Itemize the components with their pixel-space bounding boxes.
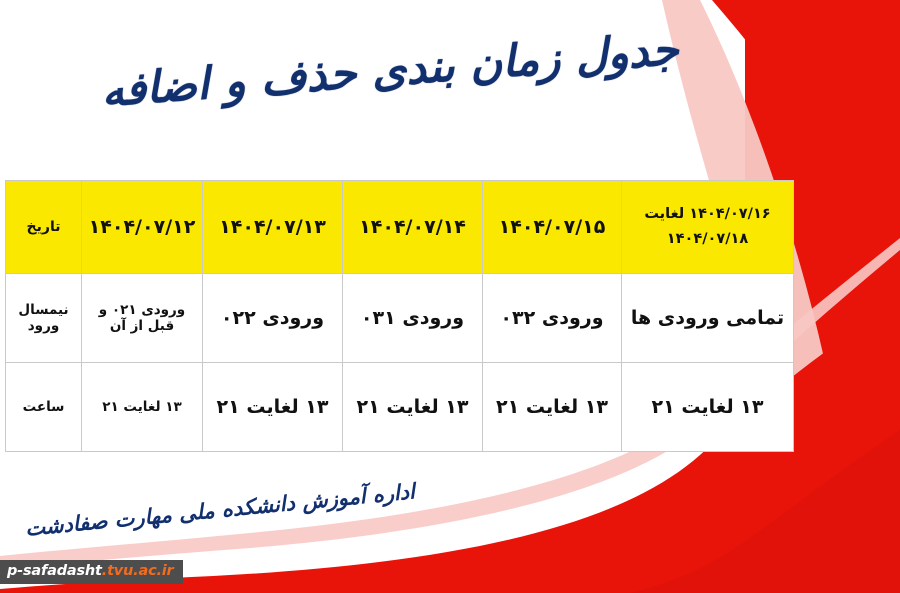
cell-entry-all: تمامی ورودی ها <box>622 274 794 363</box>
url-domain: .tvu.ac.ir <box>102 563 174 579</box>
cell-date-14: ۱۴۰۴/۰۷/۱۴ <box>343 181 483 274</box>
cell-entry-021: ورودی ۰۲۱ و قبل از آن <box>82 274 203 363</box>
cell-hour-range-all: ۱۳ لغایت ۲۱ <box>622 363 794 452</box>
table-row-entry-semester: تمامی ورودی ها ورودی ۰۳۲ ورودی ۰۳۱ ورودی… <box>6 274 794 363</box>
cell-entry-032: ورودی ۰۳۲ <box>483 274 622 363</box>
poster-title: جدول زمان بندی حذف و اضافه <box>96 0 683 151</box>
cell-date-range: ۱۴۰۴/۰۷/۱۶ لغایت ۱۴۰۴/۰۷/۱۸ <box>622 181 794 274</box>
website-url-badge[interactable]: p-safadasht.tvu.ac.ir <box>0 560 183 584</box>
cell-date-range-line1: ۱۴۰۴/۰۷/۱۶ لغایت <box>626 202 789 227</box>
cell-date-13: ۱۴۰۴/۰۷/۱۳ <box>203 181 343 274</box>
signature: اداره آموزش دانشکده ملی مهارت صفادشت <box>8 460 432 560</box>
row-label-entry-semester: نیمسال ورود <box>6 274 82 363</box>
row-label-hour: ساعت <box>6 363 82 452</box>
cell-date-12: ۱۴۰۴/۰۷/۱۲ <box>82 181 203 274</box>
schedule-table: ۱۴۰۴/۰۷/۱۶ لغایت ۱۴۰۴/۰۷/۱۸ ۱۴۰۴/۰۷/۱۵ ۱… <box>5 180 794 452</box>
table-row-hour: ۱۳ لغایت ۲۱ ۱۳ لغایت ۲۱ ۱۳ لغایت ۲۱ ۱۳ ل… <box>6 363 794 452</box>
signature-text: اداره آموزش دانشکده ملی مهارت صفادشت <box>24 479 416 540</box>
table-row-date: ۱۴۰۴/۰۷/۱۶ لغایت ۱۴۰۴/۰۷/۱۸ ۱۴۰۴/۰۷/۱۵ ۱… <box>6 181 794 274</box>
cell-entry-022: ورودی ۰۲۲ <box>203 274 343 363</box>
poster-title-text: جدول زمان بندی حذف و اضافه <box>100 23 681 116</box>
cell-hour-032: ۱۳ لغایت ۲۱ <box>483 363 622 452</box>
cell-entry-031: ورودی ۰۳۱ <box>343 274 483 363</box>
url-name: p-safadasht <box>7 563 102 579</box>
cell-hour-031: ۱۳ لغایت ۲۱ <box>343 363 483 452</box>
row-label-date: تاریخ <box>6 181 82 274</box>
cell-date-15: ۱۴۰۴/۰۷/۱۵ <box>483 181 622 274</box>
cell-hour-022: ۱۳ لغایت ۲۱ <box>203 363 343 452</box>
cell-hour-021: ۱۳ لغایت ۲۱ <box>82 363 203 452</box>
poster-canvas: جدول زمان بندی حذف و اضافه ۱۴۰۴/۰۷/۱۶ لغ… <box>0 0 900 593</box>
cell-date-range-line2: ۱۴۰۴/۰۷/۱۸ <box>626 227 789 252</box>
